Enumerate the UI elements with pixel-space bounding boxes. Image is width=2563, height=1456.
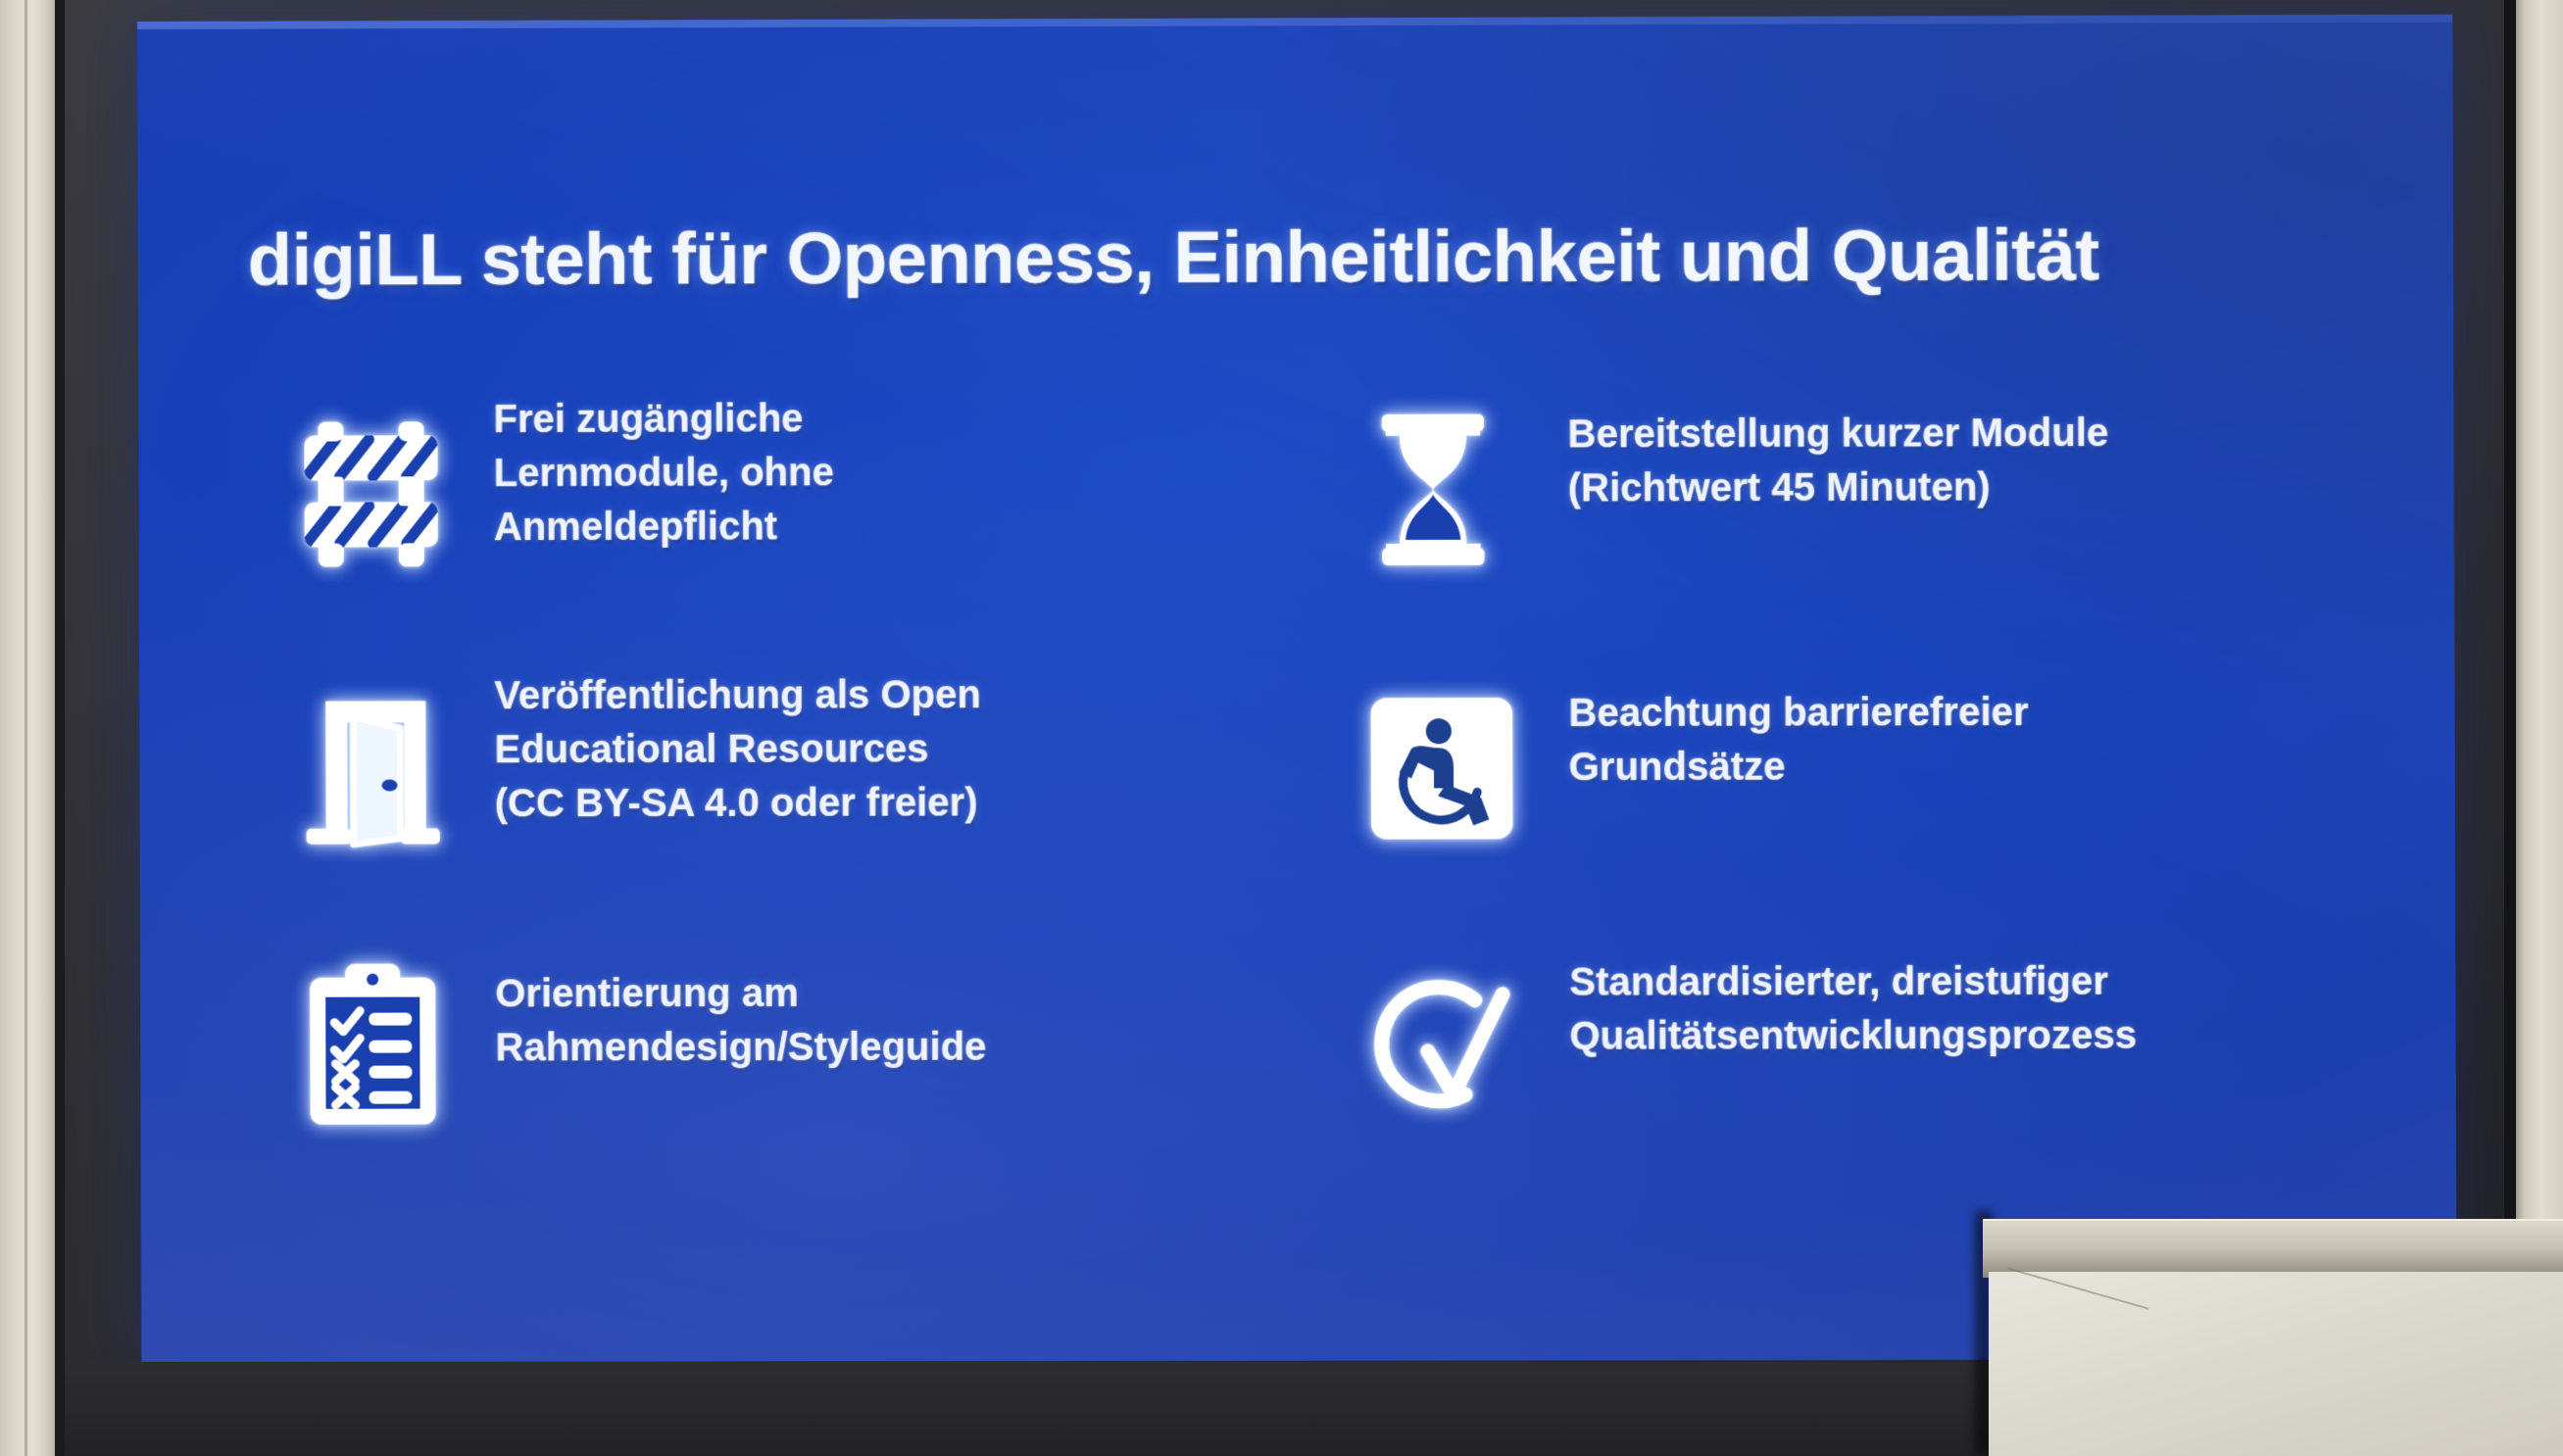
feature-line: Standardisierter, dreistufiger	[1569, 955, 2137, 1010]
wall-left-seam	[25, 0, 27, 1456]
feature-item-text: Bereitstellung kurzer Module (Richtwert …	[1567, 389, 2108, 516]
feature-line: Educational Resources	[494, 722, 981, 777]
feature-item-text: Standardisierter, dreistufiger Qualitäts…	[1569, 939, 2137, 1064]
clipboard-checklist-icon	[250, 942, 496, 1147]
feature-item-text: Orientierung am Rahmendesign/Styleguide	[495, 942, 986, 1076]
wall-right-gap	[2504, 0, 2516, 1274]
flipchart-paper	[1989, 1272, 2563, 1456]
feature-line: Veröffentlichung als Open	[494, 668, 981, 723]
feature-item-open-access: Frei zugängliche Lernmodule, ohne Anmeld…	[248, 381, 1314, 639]
feature-item-accessibility: Beachtung barrierefreier Grundsätze	[1314, 654, 2364, 911]
feature-item-text: Beachtung barrierefreier Grundsätze	[1568, 664, 2029, 796]
feature-line: (Richtwert 45 Minuten)	[1568, 461, 2109, 516]
feature-item-text: Frei zugängliche Lernmodule, ohne Anmeld…	[493, 392, 834, 556]
wall-left-strip	[0, 0, 55, 1456]
wheelchair-accessibility-icon	[1314, 665, 1569, 872]
feature-line: Frei zugängliche	[493, 392, 833, 447]
feature-item-styleguide: Orientierung am Rahmendesign/Styleguide	[250, 931, 1316, 1188]
flipchart-easel	[1965, 1201, 2563, 1456]
presentation-slide: digiLL steht für Openness, Einheitlichke…	[137, 15, 2457, 1362]
feature-line: (CC BY-SA 4.0 oder freier)	[495, 777, 982, 832]
feature-line: Orientierung am	[495, 967, 986, 1022]
road-barrier-icon	[248, 393, 494, 600]
cycle-checkmark-icon	[1315, 940, 1570, 1146]
feature-item-quality-process: Standardisierter, dreistufiger Qualitäts…	[1315, 929, 2365, 1186]
feature-line: Anmeldepflicht	[494, 501, 834, 556]
hourglass-icon	[1306, 386, 1560, 593]
feature-item-oer-license: Veröffentlichung als Open Educational Re…	[249, 655, 1315, 912]
feature-line: Rahmendesign/Styleguide	[495, 1021, 986, 1076]
open-door-icon	[249, 667, 495, 874]
photo-scene: digiLL steht für Openness, Einheitlichke…	[0, 0, 2563, 1456]
feature-line: Qualitätsentwicklungsprozess	[1569, 1009, 2137, 1064]
page-title: digiLL steht für Openness, Einheitlichke…	[248, 217, 2353, 299]
feature-line: Grundsätze	[1568, 740, 2028, 795]
feature-line: Bereitstellung kurzer Module	[1567, 407, 2108, 462]
wall-left-gap	[55, 0, 65, 1456]
feature-line: Beachtung barrierefreier	[1568, 686, 2028, 741]
feature-item-text: Veröffentlichung als Open Educational Re…	[494, 666, 981, 832]
flipchart-rail	[1983, 1219, 2563, 1278]
feature-item-short-modules: Bereitstellung kurzer Module (Richtwert …	[1313, 378, 2363, 636]
feature-line: Lernmodule, ohne	[494, 446, 834, 501]
feature-grid: Frei zugängliche Lernmodule, ohne Anmeld…	[248, 378, 2365, 1188]
